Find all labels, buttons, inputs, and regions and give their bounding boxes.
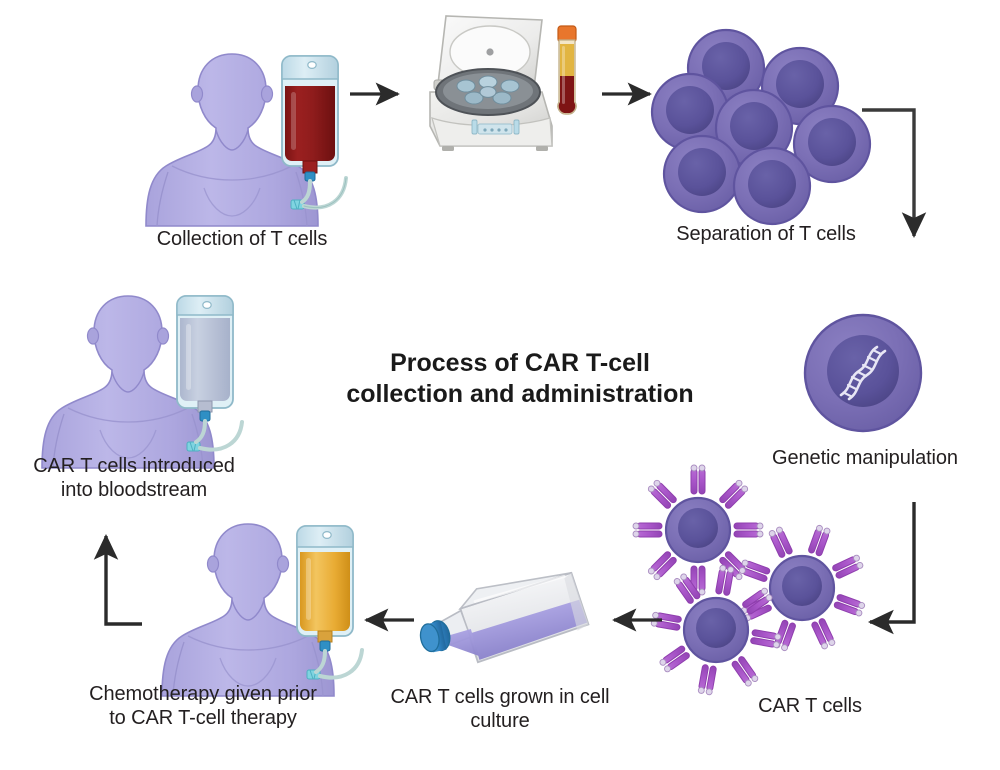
- caption-car-t-cells-grown-in-cell-culture: CAR T cells grown in cell culture: [355, 686, 645, 733]
- arrow-collection-to-centrifuge: [348, 78, 410, 110]
- caption-collection-of-t-cells: Collection of T cells: [92, 228, 392, 252]
- centrifuge-icon: [416, 6, 566, 166]
- chemo-iv-bag-icon: [287, 518, 363, 678]
- blood-tube-svg: [550, 24, 584, 134]
- car-t-cells-svg: [650, 488, 870, 678]
- car-t-cells-group: [650, 488, 870, 678]
- culture-flask-icon: [424, 570, 604, 680]
- car-t-cell-icon: [651, 565, 781, 695]
- bag-hanger-hole: [203, 302, 211, 309]
- caption-car-t-cells-introduced: CAR T cells introduced into bloodstream: [0, 455, 268, 502]
- caption-chemotherapy-given-prior: Chemotherapy given prior to CAR T-cell t…: [48, 683, 358, 730]
- caption-car-t-cells: CAR T cells: [690, 695, 930, 719]
- cell-nucleus: [827, 335, 899, 407]
- blood-bag-icon: [272, 48, 348, 208]
- figure-title: Process of CAR T-cell collection and adm…: [330, 348, 710, 409]
- bag-hanger-hole: [308, 62, 316, 69]
- blood-tube-icon: [550, 24, 584, 134]
- culture-flask-svg: [424, 570, 604, 680]
- chemo-bag-svg: [287, 518, 363, 678]
- arrow-car-t-to-culture: [604, 604, 666, 636]
- t-cell: [664, 136, 740, 212]
- centrifuge-svg: [416, 6, 566, 166]
- tube-clot-layer: [559, 76, 576, 113]
- car-t-cell-icon: [633, 465, 763, 595]
- arrow-chemo-to-infusion: [92, 518, 162, 638]
- bag-hanger-hole: [323, 532, 331, 539]
- cell-with-dna-icon: [797, 307, 929, 439]
- genetic-cell-svg: [797, 307, 929, 439]
- caption-genetic-manipulation: Genetic manipulation: [745, 447, 985, 471]
- figure-canvas: Collection of T cells: [0, 0, 1000, 770]
- arrow-separation-to-genetic: [856, 96, 936, 266]
- t-cell-cluster-svg: [654, 26, 874, 216]
- blood-bag-svg: [272, 48, 348, 208]
- car-t-iv-bag-icon: [167, 288, 243, 448]
- t-cell-cluster-icon: [654, 26, 874, 216]
- t-cell: [734, 148, 810, 224]
- car-t-bag-svg: [167, 288, 243, 448]
